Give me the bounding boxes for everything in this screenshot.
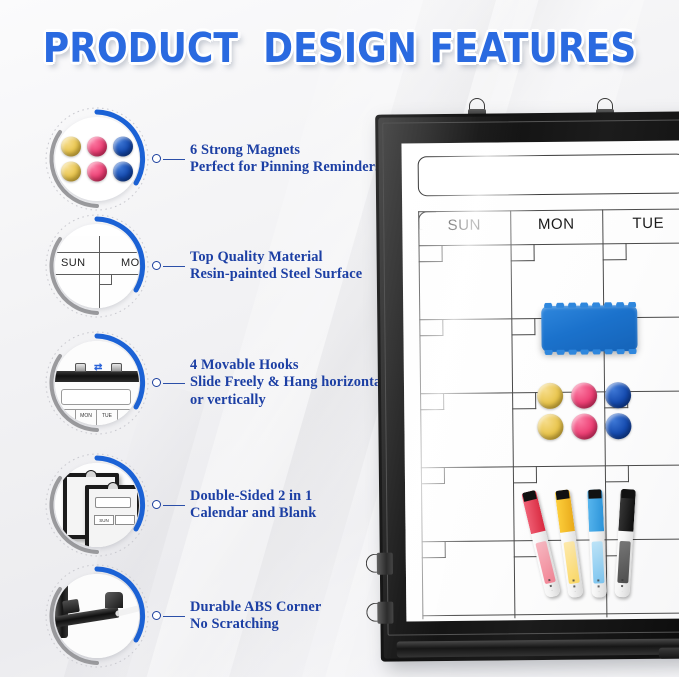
connector-line xyxy=(163,266,185,268)
hanger-tab-icon xyxy=(107,482,119,489)
feature-caption: 6 Strong Magnets Perfect for Pinning Rem… xyxy=(188,142,381,177)
callout-connector xyxy=(152,373,188,393)
abs-corner-thumb xyxy=(55,574,139,658)
connector-dot-icon xyxy=(152,154,161,163)
marker-tray xyxy=(397,638,679,657)
magnet-pink xyxy=(87,162,107,182)
magnets-icon xyxy=(61,137,133,182)
hook-block xyxy=(377,602,393,624)
thumb-day-row: MON TUE xyxy=(55,409,139,425)
feature-thumbnail xyxy=(44,563,150,669)
marker-black[interactable] xyxy=(614,489,635,598)
connector-line xyxy=(163,505,185,507)
frame-clip xyxy=(62,599,80,614)
thumb-day-label: TUE xyxy=(97,410,118,425)
slide-arrow-icon: ⇄ xyxy=(94,363,104,372)
board-front: SUN xyxy=(85,485,139,547)
board-surface: SUN MON TUE xyxy=(401,140,679,621)
connector-line xyxy=(163,159,185,161)
side-hook xyxy=(366,602,396,624)
board-title-box[interactable] xyxy=(418,153,679,196)
magnet-blue[interactable] xyxy=(605,382,631,408)
frame-corner-icon xyxy=(55,574,139,658)
connector-line xyxy=(163,383,185,385)
connector-dot-icon xyxy=(152,500,161,509)
magnet-blue xyxy=(113,162,133,182)
feature-thumbnail: SUN MO xyxy=(44,213,150,319)
board-magnets xyxy=(537,382,632,440)
magnetic-eraser[interactable] xyxy=(541,305,637,352)
thumb-day-label: MO xyxy=(121,257,139,269)
feature-caption: Double-Sided 2 in 1 Calendar and Blank xyxy=(188,488,316,523)
stacked-boards-icon: SUN xyxy=(55,463,139,547)
feature-caption: Top Quality Material Resin-painted Steel… xyxy=(188,249,362,284)
connector-line xyxy=(163,616,185,618)
thumb-day-label: SUN xyxy=(94,515,114,525)
magnet-pink[interactable] xyxy=(571,382,597,408)
connector-dot-icon xyxy=(152,378,161,387)
magnet-blue xyxy=(113,137,133,157)
day-header-tue: TUE xyxy=(611,215,679,233)
magnet-pink xyxy=(87,137,107,157)
magnets-thumb xyxy=(55,117,139,201)
hook-block xyxy=(377,553,393,575)
connector-dot-icon xyxy=(152,261,161,270)
magnet-yellow[interactable] xyxy=(537,414,563,440)
material-thumb: SUN MO xyxy=(55,224,139,308)
whiteboard-product: SUN MON TUE xyxy=(375,111,679,661)
magnet-yellow xyxy=(61,137,81,157)
connector-dot-icon xyxy=(152,611,161,620)
thumb-day-cell xyxy=(115,515,135,525)
infographic-canvas: PRODUCT DESIGN FEATURES xyxy=(0,0,679,677)
magnet-blue[interactable] xyxy=(605,413,631,439)
callout-connector xyxy=(152,606,188,626)
feature-thumbnail xyxy=(44,106,150,212)
magnet-yellow xyxy=(61,162,81,182)
hanger-tab-icon xyxy=(85,470,97,477)
thumb-day-label xyxy=(55,410,76,425)
marker-yellow[interactable] xyxy=(555,489,584,598)
side-hook xyxy=(366,553,396,575)
callout-connector xyxy=(152,149,188,169)
thumb-day-label: SUN xyxy=(61,257,85,269)
feature-caption: 4 Movable Hooks Slide Freely & Hang hori… xyxy=(188,357,397,410)
double-sided-thumb: SUN xyxy=(55,463,139,547)
page-title: PRODUCT DESIGN FEATURES xyxy=(41,24,639,72)
hook-rail-icon: ⇄ MON TUE xyxy=(55,341,139,425)
feature-thumbnail: ⇄ MON TUE xyxy=(44,330,150,436)
magnet-pink[interactable] xyxy=(571,413,597,439)
day-header-sun: SUN xyxy=(427,216,501,234)
hooks-thumb: ⇄ MON TUE xyxy=(55,341,139,425)
thumb-day-label xyxy=(118,410,139,425)
thumb-title-box xyxy=(95,497,131,508)
hook-clip xyxy=(111,363,122,372)
feature-thumbnail: SUN xyxy=(44,452,150,558)
marker-blue[interactable] xyxy=(587,489,607,598)
feature-caption: Durable ABS Corner No Scratching xyxy=(188,599,321,634)
calendar-surface-icon: SUN MO xyxy=(55,236,139,308)
tray-knob xyxy=(659,647,679,658)
thumb-day-label: MON xyxy=(76,410,97,425)
callout-connector xyxy=(152,256,188,276)
hook-clip xyxy=(75,363,86,372)
dry-erase-markers xyxy=(533,489,679,611)
day-header-mon: MON xyxy=(519,215,593,233)
thumb-title-box xyxy=(61,389,131,405)
magnet-yellow[interactable] xyxy=(537,383,563,409)
callout-connector xyxy=(152,495,188,515)
abs-corner-cap xyxy=(105,592,123,608)
